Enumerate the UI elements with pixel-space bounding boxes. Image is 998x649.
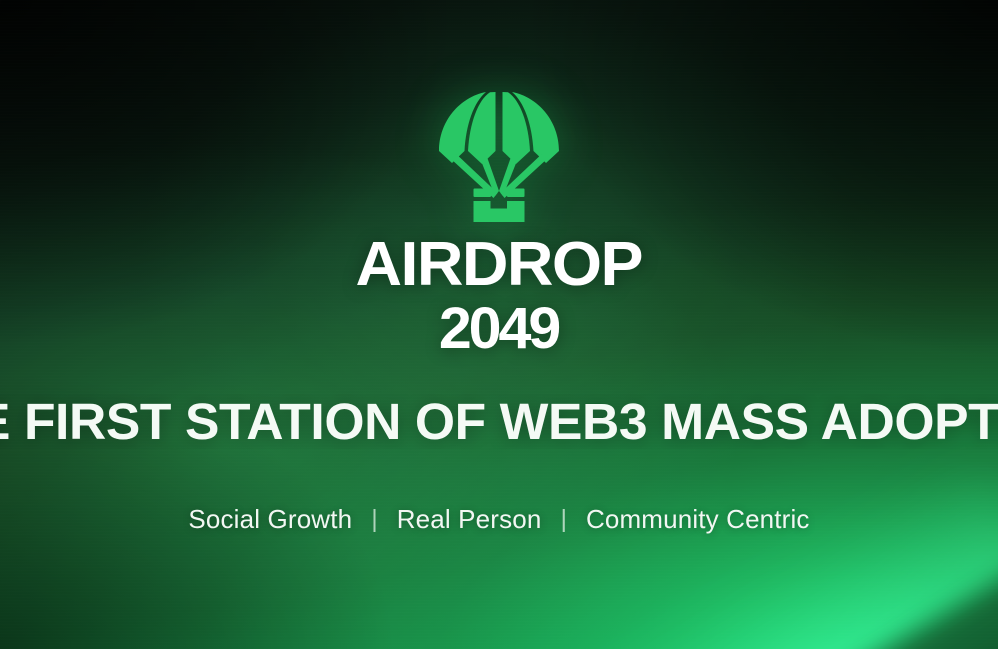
tagline-real-person: Real Person <box>397 504 542 535</box>
brand-wordmark: AIRDROP 2049 <box>361 234 636 358</box>
brand-name-line2: 2049 <box>439 300 558 358</box>
brand-name-line1: AIRDROP <box>356 234 642 296</box>
headline-row: THE FIRST STATION OF WEB3 MASS ADOPTION <box>0 394 998 449</box>
tagline-separator-2: | <box>541 505 586 534</box>
hero-content: AIRDROP 2049 THE FIRST STATION OF WEB3 M… <box>0 0 998 649</box>
tagline-list: Social Growth | Real Person | Community … <box>0 504 998 535</box>
hero-banner: AIRDROP 2049 THE FIRST STATION OF WEB3 M… <box>0 0 998 649</box>
page-title: THE FIRST STATION OF WEB3 MASS ADOPTION <box>0 394 998 449</box>
tagline-separator-1: | <box>352 505 397 534</box>
parachute-airdrop-icon <box>433 88 565 226</box>
tagline-community-centric: Community Centric <box>586 504 810 535</box>
tagline-social-growth: Social Growth <box>188 504 352 535</box>
